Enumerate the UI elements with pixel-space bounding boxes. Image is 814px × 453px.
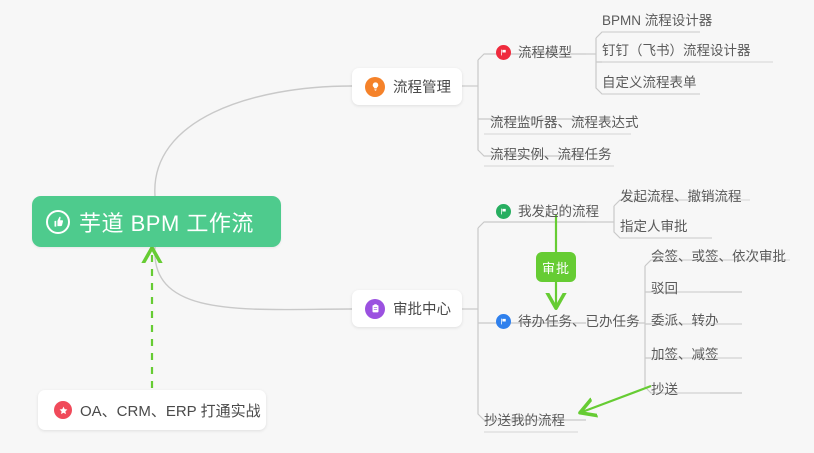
leaf-label: 驳回: [651, 281, 678, 296]
leaf-label: 发起流程、撤销流程: [620, 189, 742, 204]
clipboard-icon: [365, 299, 385, 319]
flag-icon: [496, 45, 511, 60]
leaf-add-remove-sign[interactable]: 加签、减签: [651, 346, 719, 367]
mindmap-canvas: 芋道 BPM 工作流 流程管理 流程模型 BPMN 流程设计器 钉钉（飞书）流程…: [0, 0, 814, 453]
leaf-delegate-transfer[interactable]: 委派、转办: [651, 312, 719, 333]
leaf-label: 钉钉（飞书）流程设计器: [602, 43, 751, 58]
leaf-label: 指定人审批: [620, 219, 688, 234]
sub-node-my-initiated[interactable]: 我发起的流程: [496, 203, 599, 224]
sub-node-liucheng-moxing[interactable]: 流程模型: [496, 44, 572, 65]
branch-label: 审批中心: [393, 298, 451, 319]
annotation-note-shenpi: 审批: [536, 252, 576, 282]
root-label: 芋道 BPM 工作流: [79, 206, 254, 238]
leaf-assignee-approval[interactable]: 指定人审批: [620, 218, 688, 239]
thumbs-up-icon: [46, 210, 70, 234]
leaf-dingding-designer[interactable]: 钉钉（飞书）流程设计器: [602, 42, 751, 63]
sub-node-instance-task[interactable]: 流程实例、流程任务: [490, 146, 612, 167]
sub-node-listener-expression[interactable]: 流程监听器、流程表达式: [490, 114, 639, 135]
leaf-countersign[interactable]: 会签、或签、依次审批: [651, 248, 786, 269]
footer-node-label: OA、CRM、ERP 打通实战: [80, 400, 261, 421]
flag-icon: [496, 204, 511, 219]
link-liucheng-bracket: [478, 54, 586, 156]
annotation-note-label: 审批: [542, 258, 570, 277]
leaf-reject[interactable]: 驳回: [651, 280, 678, 301]
branch-node-shenpi-zhongxin[interactable]: 审批中心: [352, 290, 462, 327]
leaf-label: 抄送: [651, 382, 678, 397]
link-root-to-shenpi: [155, 247, 352, 310]
leaf-start-cancel-process[interactable]: 发起流程、撤销流程: [620, 188, 742, 209]
root-node[interactable]: 芋道 BPM 工作流: [32, 196, 281, 247]
leaf-cc[interactable]: 抄送: [651, 381, 678, 402]
footer-node-oa-crm-erp[interactable]: OA、CRM、ERP 打通实战: [38, 390, 266, 430]
sub-node-label: 抄送我的流程: [484, 413, 565, 428]
leaf-label: 会签、或签、依次审批: [651, 249, 786, 264]
annotation-arrow-chaosong: [582, 386, 651, 412]
sub-node-label: 流程实例、流程任务: [490, 147, 612, 162]
branch-label: 流程管理: [393, 76, 451, 97]
leaf-label: 委派、转办: [651, 313, 719, 328]
sub-node-label: 流程模型: [518, 45, 572, 60]
sub-node-todo-done-tasks[interactable]: 待办任务、已办任务: [496, 313, 640, 334]
sub-node-label: 流程监听器、流程表达式: [490, 115, 639, 130]
sub-node-cc-to-me[interactable]: 抄送我的流程: [484, 412, 565, 433]
link-root-to-liucheng: [155, 86, 352, 196]
leaf-custom-form[interactable]: 自定义流程表单: [602, 74, 697, 95]
leaf-label: BPMN 流程设计器: [602, 13, 712, 28]
leaf-label: 加签、减签: [651, 347, 719, 362]
leaf-label: 自定义流程表单: [602, 75, 697, 90]
sub-node-label: 我发起的流程: [518, 204, 599, 219]
flag-icon: [496, 314, 511, 329]
leaf-bpmn-designer[interactable]: BPMN 流程设计器: [602, 12, 712, 33]
branch-node-liucheng-guanli[interactable]: 流程管理: [352, 68, 462, 105]
lightbulb-icon: [365, 77, 385, 97]
star-icon: [54, 401, 72, 419]
sub-node-label: 待办任务、已办任务: [518, 314, 640, 329]
